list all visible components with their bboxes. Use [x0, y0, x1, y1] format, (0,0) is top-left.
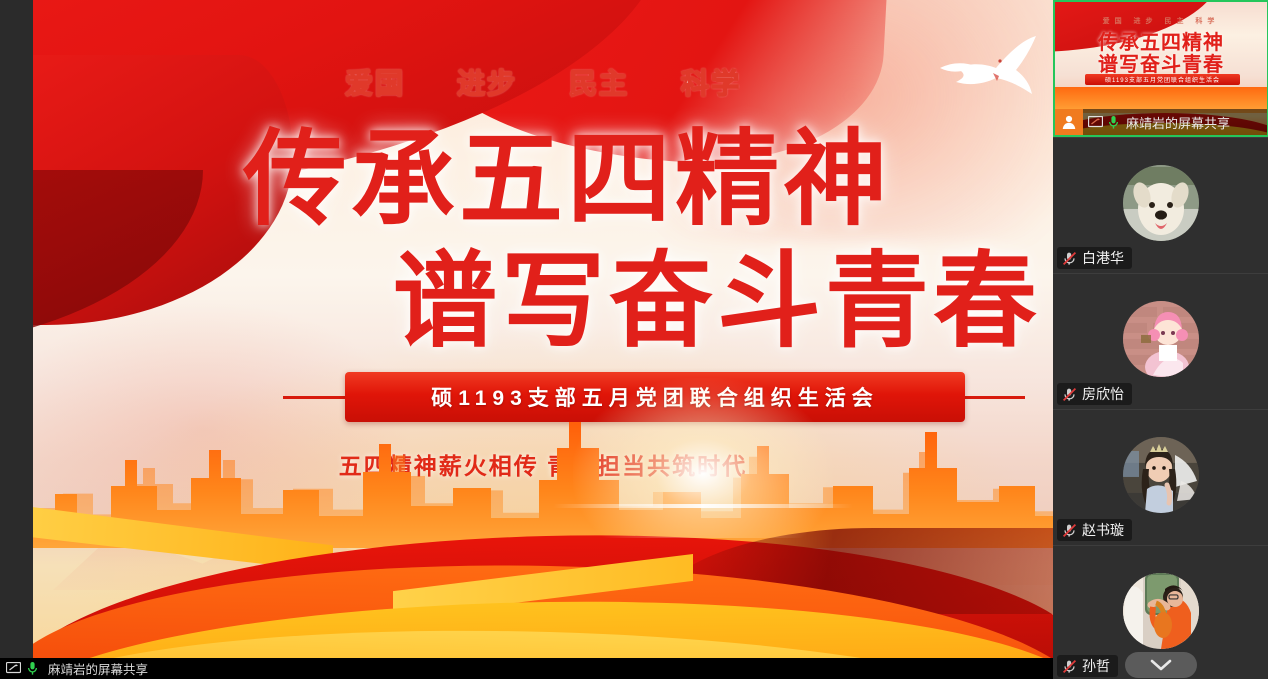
slide-slogan-row: 爱国 进步 民主 科学	[33, 62, 1053, 102]
microphone-on-icon[interactable]	[27, 661, 38, 676]
person-avatar-icon	[1055, 109, 1083, 135]
thumbnail-title-line2: 谱写奋斗青春	[1055, 48, 1267, 77]
screen-share-icon	[1088, 116, 1103, 129]
participant-name-chip: 孙哲	[1057, 655, 1118, 677]
participant-name: 白港华	[1082, 248, 1124, 268]
participant-sidebar: 爱国 进步 民主 科学 传承五四精神 谱写奋斗青春 硕1193支部五月党团联合组…	[1053, 0, 1268, 679]
participant-tile[interactable]: 房欣怡	[1053, 273, 1268, 409]
slide-title-line1: 传承五四精神	[243, 128, 891, 232]
participant-name: 孙哲	[1082, 656, 1110, 676]
participant-tile[interactable]: 赵书璇	[1053, 409, 1268, 545]
participant-name: 赵书璇	[1082, 520, 1124, 540]
slogan-item-3: 科学	[681, 62, 741, 102]
participant-name-chip: 房欣怡	[1057, 383, 1132, 405]
avatar	[1123, 572, 1199, 648]
thumbnail-label-row: 麻靖岩的屏幕共享	[1055, 109, 1267, 135]
avatar	[1123, 300, 1199, 376]
participant-tile[interactable]: 孙哲	[1053, 545, 1268, 679]
microphone-muted-icon	[1062, 251, 1077, 266]
thumbnail-banner: 硕1193支部五月党团联合组织生活会	[1085, 74, 1240, 85]
avatar	[1123, 436, 1199, 512]
cityscape-front	[33, 398, 1053, 548]
microphone-muted-icon	[1062, 659, 1077, 674]
participant-name-chip: 赵书璇	[1057, 519, 1132, 541]
participant-name: 房欣怡	[1082, 384, 1124, 404]
share-status-label: 麻靖岩的屏幕共享	[44, 659, 148, 678]
slide-title-line2: 谱写奋斗青春	[393, 250, 1041, 354]
thumbnail-label: 麻靖岩的屏幕共享	[1126, 113, 1230, 132]
thumbnail-slogans: 爱国 进步 民主 科学	[1055, 16, 1267, 26]
app-window: 爱国 进步 民主 科学 传承五四精神 谱写奋斗青春 硕1193支部五月党团联合组…	[0, 0, 1268, 679]
scroll-down-button[interactable]	[1125, 652, 1197, 678]
shared-slide: 爱国 进步 民主 科学 传承五四精神 谱写奋斗青春 硕1193支部五月党团联合组…	[33, 0, 1053, 658]
sunburst-ray	[553, 504, 853, 508]
participant-name-chip: 白港华	[1057, 247, 1132, 269]
screen-share-icon[interactable]	[6, 662, 21, 675]
sunburst-glow	[573, 378, 833, 538]
share-thumbnail-tile[interactable]: 爱国 进步 民主 科学 传承五四精神 谱写奋斗青春 硕1193支部五月党团联合组…	[1053, 0, 1268, 137]
slogan-item-1: 进步	[457, 62, 517, 102]
microphone-on-icon	[1108, 115, 1119, 130]
participant-tile[interactable]: 白港华	[1053, 137, 1268, 273]
chevron-down-icon	[1150, 659, 1172, 671]
screen-share-stage: 爱国 进步 民主 科学 传承五四精神 谱写奋斗青春 硕1193支部五月党团联合组…	[0, 0, 1053, 679]
share-status-bar: 麻靖岩的屏幕共享	[0, 658, 1053, 679]
microphone-muted-icon	[1062, 387, 1077, 402]
slogan-item-2: 民主	[569, 62, 629, 102]
microphone-muted-icon	[1062, 523, 1077, 538]
avatar	[1123, 164, 1199, 240]
slogan-item-0: 爱国	[345, 62, 405, 102]
